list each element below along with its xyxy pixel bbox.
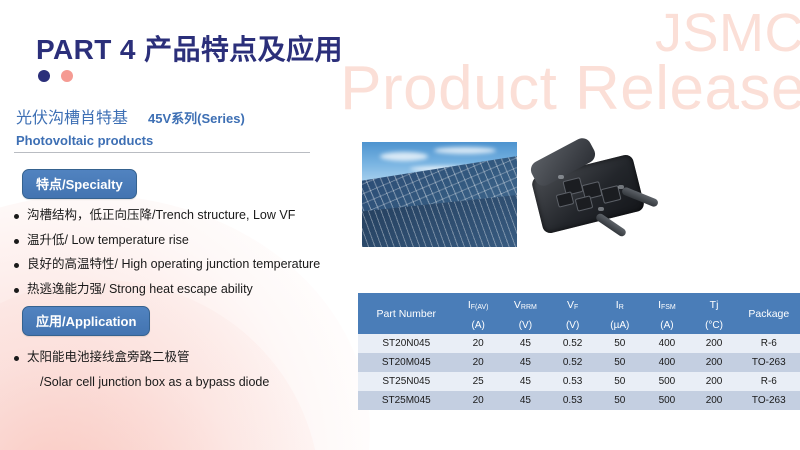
th-part-number: Part Number bbox=[358, 293, 455, 334]
cell-package: R-6 bbox=[738, 334, 800, 353]
bullet-icon bbox=[14, 239, 19, 244]
photo-cloud bbox=[434, 147, 496, 154]
bullet-icon bbox=[14, 214, 19, 219]
subtitle-chinese: 光伏沟槽肖特基 bbox=[16, 104, 128, 128]
cell-if-av: 25 bbox=[455, 372, 502, 391]
subtitle-row: 光伏沟槽肖特基 45V系列(Series) bbox=[16, 104, 245, 128]
cell-ir: 50 bbox=[596, 353, 643, 372]
cell-package: TO-263 bbox=[738, 391, 800, 410]
application-item-text: 太阳能电池接线盒旁路二极管 bbox=[27, 350, 190, 366]
table-header-row: Part Number IF(AV) VRRM VF IR IFSM Tj Pa… bbox=[358, 293, 800, 316]
cell-tj: 200 bbox=[690, 391, 737, 410]
dot-coral-icon bbox=[61, 70, 73, 82]
specialty-item-text: 温升低/ Low temperature rise bbox=[27, 233, 189, 249]
bullet-icon bbox=[14, 288, 19, 293]
specialty-item-text: 热逃逸能力强/ Strong heat escape ability bbox=[27, 282, 253, 298]
decorative-dots bbox=[38, 70, 73, 82]
cell-package: TO-263 bbox=[738, 353, 800, 372]
cell-part-number: ST20M045 bbox=[358, 353, 455, 372]
th-unit-tj: (°C) bbox=[690, 316, 737, 334]
th-ir: IR bbox=[596, 293, 643, 316]
th-vf: VF bbox=[549, 293, 596, 316]
specialty-list: 沟槽结构，低正向压降/Trench structure, Low VF 温升低/… bbox=[14, 208, 320, 307]
cell-part-number: ST25N045 bbox=[358, 372, 455, 391]
cell-vf: 0.52 bbox=[549, 353, 596, 372]
table-row: ST20M045 20 45 0.52 50 400 200 TO-263 bbox=[358, 353, 800, 372]
jbox-contact bbox=[598, 207, 604, 211]
bullet-icon bbox=[14, 356, 19, 361]
table-row: ST20N045 20 45 0.52 50 400 200 R-6 bbox=[358, 334, 800, 353]
th-unit-ifsm: (A) bbox=[643, 316, 690, 334]
subtitle-english: Photovoltaic products bbox=[16, 133, 153, 148]
subtitle-series: 45V系列(Series) bbox=[148, 108, 245, 127]
cell-ifsm: 500 bbox=[643, 391, 690, 410]
table-row: ST25N045 25 45 0.53 50 500 200 R-6 bbox=[358, 372, 800, 391]
cell-vf: 0.53 bbox=[549, 391, 596, 410]
th-unit-vf: (V) bbox=[549, 316, 596, 334]
watermark-jsmc: JSMC bbox=[655, 6, 800, 60]
solar-panel-array-photo bbox=[362, 142, 517, 247]
cell-vrrm: 45 bbox=[502, 353, 549, 372]
th-unit-if-av: (A) bbox=[455, 316, 502, 334]
cell-ifsm: 500 bbox=[643, 372, 690, 391]
photo-cloud bbox=[380, 152, 428, 161]
cell-package: R-6 bbox=[738, 372, 800, 391]
th-ifsm: IFSM bbox=[643, 293, 690, 316]
th-if-av: IF(AV) bbox=[455, 293, 502, 316]
table-body: ST20N045 20 45 0.52 50 400 200 R-6 ST20M… bbox=[358, 334, 800, 410]
cell-if-av: 20 bbox=[455, 353, 502, 372]
list-item: 良好的高温特性/ High operating junction tempera… bbox=[14, 257, 320, 273]
header-divider bbox=[14, 152, 310, 153]
cell-tj: 200 bbox=[690, 353, 737, 372]
dot-navy-icon bbox=[38, 70, 50, 82]
cell-vf: 0.52 bbox=[549, 334, 596, 353]
th-tj: Tj bbox=[690, 293, 737, 316]
cell-ifsm: 400 bbox=[643, 353, 690, 372]
cell-part-number: ST25M045 bbox=[358, 391, 455, 410]
cell-part-number: ST20N045 bbox=[358, 334, 455, 353]
jbox-contact bbox=[558, 175, 564, 179]
cell-vf: 0.53 bbox=[549, 372, 596, 391]
th-unit-vrrm: (V) bbox=[502, 316, 549, 334]
list-item: 太阳能电池接线盒旁路二极管 bbox=[14, 350, 269, 366]
specialty-item-text: 良好的高温特性/ High operating junction tempera… bbox=[27, 257, 320, 273]
cell-ifsm: 400 bbox=[643, 334, 690, 353]
cell-tj: 200 bbox=[690, 372, 737, 391]
th-vrrm: VRRM bbox=[502, 293, 549, 316]
table-row: ST25M045 20 45 0.53 50 500 200 TO-263 bbox=[358, 391, 800, 410]
junction-box-photo bbox=[520, 135, 670, 253]
list-item: 沟槽结构，低正向压降/Trench structure, Low VF bbox=[14, 208, 320, 224]
cell-vrrm: 45 bbox=[502, 391, 549, 410]
cell-vrrm: 45 bbox=[502, 334, 549, 353]
watermark-product-release: Product Release bbox=[340, 58, 800, 120]
specialty-heading-badge: 特点/Specialty bbox=[22, 169, 137, 199]
cell-ir: 50 bbox=[596, 372, 643, 391]
application-item-subtext: /Solar cell junction box as a bypass dio… bbox=[40, 375, 269, 389]
cell-if-av: 20 bbox=[455, 391, 502, 410]
list-item: 温升低/ Low temperature rise bbox=[14, 233, 320, 249]
slide-root: JSMC Product Release PART 4 产品特点及应用 光伏沟槽… bbox=[0, 0, 800, 450]
application-heading-badge: 应用/Application bbox=[22, 306, 150, 336]
specifications-table: Part Number IF(AV) VRRM VF IR IFSM Tj Pa… bbox=[358, 293, 800, 410]
application-list: 太阳能电池接线盒旁路二极管 /Solar cell junction box a… bbox=[14, 350, 269, 389]
cell-tj: 200 bbox=[690, 334, 737, 353]
cell-ir: 50 bbox=[596, 334, 643, 353]
th-package: Package bbox=[738, 293, 800, 334]
cell-vrrm: 45 bbox=[502, 372, 549, 391]
list-item: 热逃逸能力强/ Strong heat escape ability bbox=[14, 282, 320, 298]
bullet-icon bbox=[14, 263, 19, 268]
cell-ir: 50 bbox=[596, 391, 643, 410]
cell-if-av: 20 bbox=[455, 334, 502, 353]
th-unit-ir: (µA) bbox=[596, 316, 643, 334]
specialty-item-text: 沟槽结构，低正向压降/Trench structure, Low VF bbox=[27, 208, 295, 224]
page-title: PART 4 产品特点及应用 bbox=[36, 28, 343, 68]
